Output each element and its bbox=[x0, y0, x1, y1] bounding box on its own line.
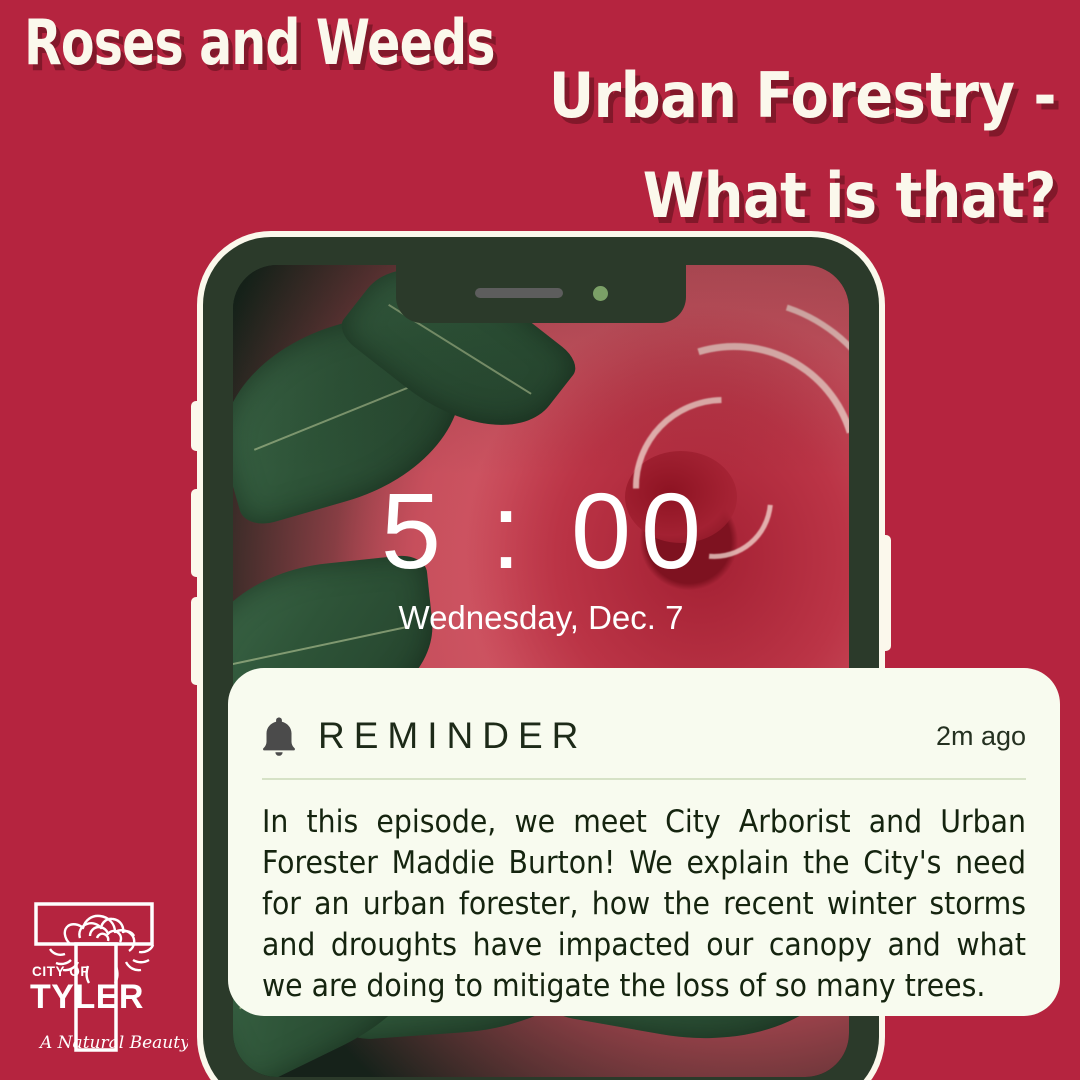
notification-header: REMINDER 2m ago bbox=[262, 708, 1026, 764]
show-title: Roses and Weeds bbox=[24, 12, 495, 74]
notification-label: REMINDER bbox=[318, 715, 587, 757]
city-of-tyler-logo-mark: CITY OF TYLER A Natural Beauty bbox=[18, 898, 188, 1058]
notification-divider bbox=[262, 778, 1026, 780]
logo-tagline: A Natural Beauty bbox=[38, 1033, 188, 1053]
lockscreen-clock: 5 : 00 Wednesday, Dec. 7 bbox=[233, 477, 849, 637]
notification-timestamp: 2m ago bbox=[936, 721, 1026, 752]
episode-title-line-1: Urban Forestry - bbox=[456, 46, 1056, 146]
episode-title: Urban Forestry - What is that? bbox=[456, 46, 1056, 247]
notification-body: In this episode, we meet City Arborist a… bbox=[262, 802, 1026, 1007]
reminder-notification-card[interactable]: REMINDER 2m ago In this episode, we meet… bbox=[228, 668, 1060, 1016]
city-of-tyler-logo: CITY OF TYLER A Natural Beauty bbox=[18, 898, 188, 1058]
logo-line-large: TYLER bbox=[30, 978, 144, 1016]
clock-date: Wednesday, Dec. 7 bbox=[233, 599, 849, 637]
clock-time: 5 : 00 bbox=[233, 477, 849, 585]
front-camera-icon bbox=[593, 286, 608, 301]
logo-line-small: CITY OF bbox=[32, 964, 89, 979]
phone-notch bbox=[396, 265, 686, 323]
headline-area: Roses and Weeds Urban Forestry - What is… bbox=[0, 0, 1080, 240]
bell-icon bbox=[262, 715, 296, 757]
speaker-grille-icon bbox=[475, 288, 563, 298]
